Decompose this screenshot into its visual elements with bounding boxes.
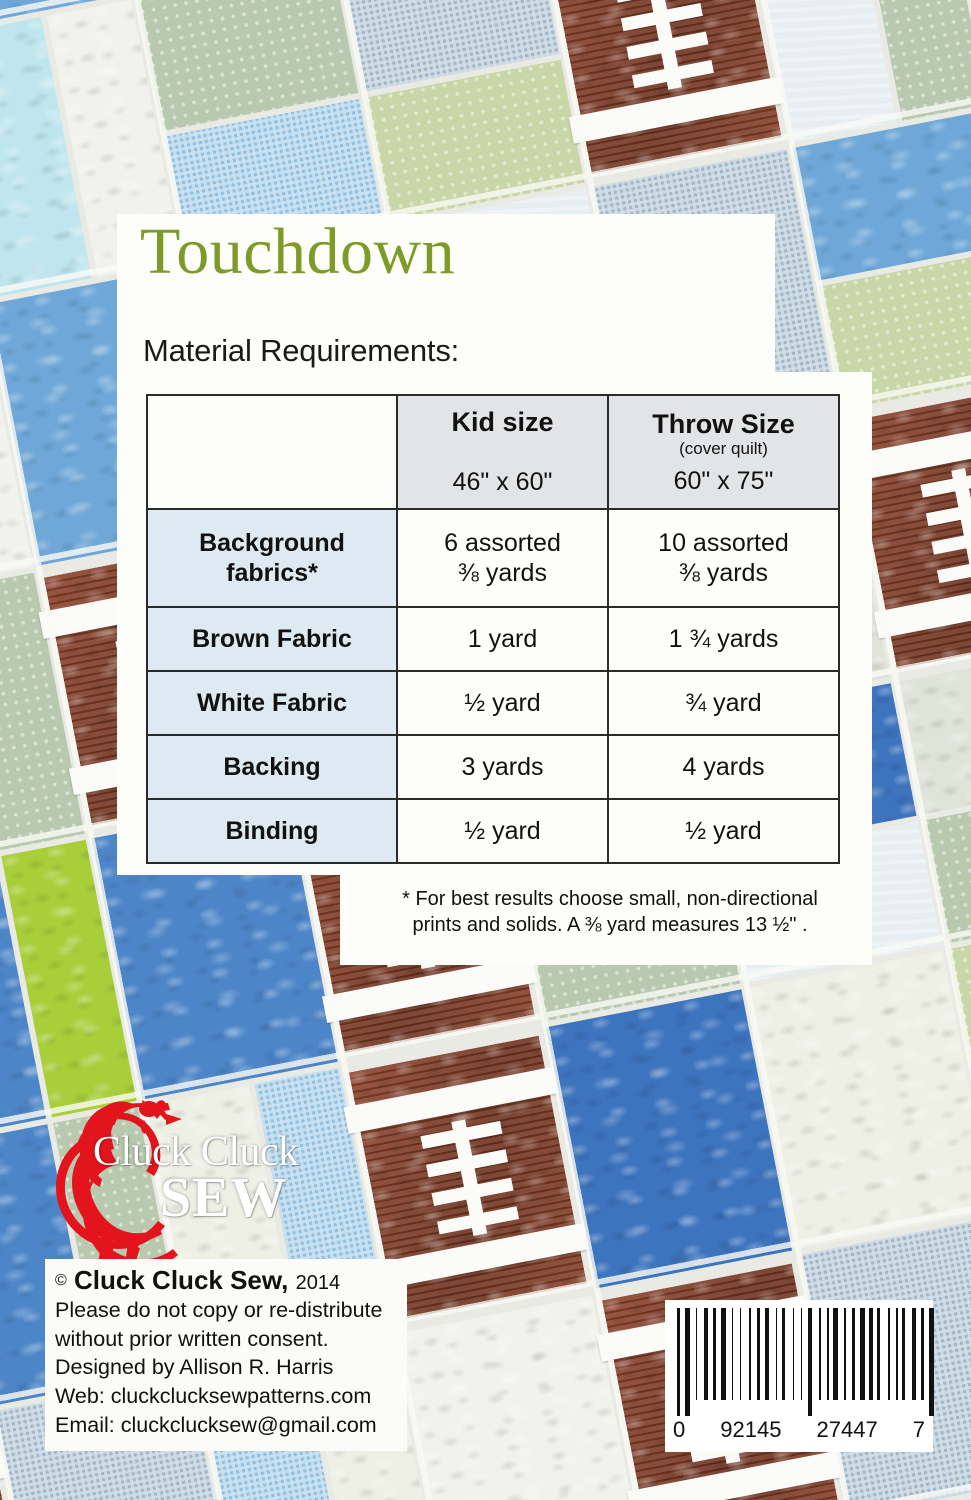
row-label-line2: fabrics* [226, 559, 318, 587]
cell-line1: 10 assorted [658, 529, 789, 557]
table-row: Brown Fabric 1 yard 1 ¾ yards [147, 607, 839, 671]
row-label-binding: Binding [147, 799, 397, 863]
barcode-bar [732, 1308, 734, 1400]
barcode-left-digit: 0 [673, 1417, 685, 1443]
barcode-group-1: 92145 [720, 1417, 781, 1443]
throw-size-name: Throw Size [609, 409, 838, 440]
copyright-line-3: without prior written consent. [55, 1325, 399, 1354]
copyright-line-email[interactable]: Email: cluckclucksew@gmail.com [55, 1411, 399, 1440]
barcode-bar [713, 1308, 716, 1400]
quilt-patch [397, 1295, 643, 1500]
copyright-year: 2014 [296, 1272, 341, 1294]
barcode-bar [852, 1308, 855, 1400]
cell-line1: 6 assorted [444, 529, 561, 557]
barcode-bar [696, 1308, 698, 1400]
barcode-bar [801, 1308, 803, 1400]
football-quilt-block [544, 0, 782, 174]
column-header-kid-size: Kid size 46" x 60" [397, 395, 608, 509]
section-heading-material-requirements: Material Requirements: [143, 333, 459, 369]
row-label-white-fabric: White Fabric [147, 671, 397, 735]
barcode-group-2: 27447 [817, 1417, 878, 1443]
barcode-bar [902, 1308, 905, 1400]
cell-line2: ⅜ yards [458, 559, 547, 587]
barcode-bar [677, 1308, 680, 1416]
barcode-bar [833, 1308, 838, 1400]
barcode-bar [929, 1308, 934, 1416]
kid-size-dims: 46" x 60" [398, 468, 607, 497]
barcode-bar [888, 1308, 890, 1400]
barcode-bar [921, 1308, 924, 1400]
barcode-bars [677, 1308, 923, 1416]
barcode-bar [776, 1308, 778, 1400]
barcode-bar [912, 1308, 917, 1400]
row-label-backing: Backing [147, 735, 397, 799]
cell-backing-throw: 4 yards [608, 735, 839, 799]
barcode-bar [765, 1308, 770, 1400]
table-row: Backing 3 yards 4 yards [147, 735, 839, 799]
footnote-line2: prints and solids. A ⅜ yard measures 13 … [356, 912, 864, 938]
cluck-cluck-sew-logo: Cluck Cluck SEW [48, 1098, 316, 1266]
kid-size-name: Kid size [398, 407, 607, 438]
cell-backing-kid: 3 yards [397, 735, 608, 799]
chicken-icon [48, 1098, 316, 1266]
copyright-line-web[interactable]: Web: cluckclucksewpatterns.com [55, 1382, 399, 1411]
cell-white-throw: ¾ yard [608, 671, 839, 735]
throw-size-dims: 60" x 75" [609, 467, 838, 496]
table-row: White Fabric ½ yard ¾ yard [147, 671, 839, 735]
cell-line2: ⅜ yards [679, 559, 768, 587]
barcode-bar [896, 1308, 898, 1400]
barcode-bar [721, 1308, 726, 1400]
table-row: Binding ½ yard ½ yard [147, 799, 839, 863]
cell-binding-throw: ½ yard [608, 799, 839, 863]
barcode-bar [740, 1308, 742, 1400]
cell-white-kid: ½ yard [397, 671, 608, 735]
barcode-bar [808, 1308, 811, 1416]
copyright-line-2: Please do not copy or re-distribute [55, 1296, 399, 1325]
barcode-bar [860, 1308, 865, 1400]
barcode-bar [877, 1308, 880, 1400]
barcode-bar [819, 1308, 821, 1400]
copyright-company: Cluck Cluck Sew, [74, 1265, 288, 1295]
copyright-symbol: © [55, 1272, 67, 1289]
cell-brown-throw: 1 ¾ yards [608, 607, 839, 671]
barcode-bar [749, 1308, 751, 1400]
barcode-bar [844, 1308, 846, 1400]
barcode-bar [827, 1308, 829, 1400]
footnote-line1: * For best results choose small, non-dir… [356, 886, 864, 912]
row-label-line1: Background [199, 529, 345, 557]
barcode-right-digit: 7 [913, 1417, 925, 1443]
copyright-block: © Cluck Cluck Sew, 2014 Please do not co… [45, 1259, 407, 1451]
table-corner-cell [147, 395, 397, 509]
cell-binding-kid: ½ yard [397, 799, 608, 863]
table-header-row: Kid size 46" x 60" Throw Size (cover qui… [147, 395, 839, 509]
barcode-bar [757, 1308, 760, 1400]
page-title: Touchdown [140, 219, 455, 285]
cell-brown-kid: 1 yard [397, 607, 608, 671]
throw-size-subtitle: (cover quilt) [609, 439, 838, 458]
material-requirements-table: Kid size 46" x 60" Throw Size (cover qui… [146, 394, 840, 864]
barcode-bar [793, 1308, 795, 1400]
barcode-bar [869, 1308, 872, 1400]
barcode-bar [782, 1308, 785, 1400]
cell-background-throw: 10 assorted ⅜ yards [608, 509, 839, 607]
upc-barcode: 0 92145 27447 7 [665, 1300, 933, 1452]
table-footnote: * For best results choose small, non-dir… [356, 886, 864, 939]
pattern-back-cover: Touchdown Material Requirements: Kid siz… [0, 0, 971, 1500]
copyright-line-company: © Cluck Cluck Sew, 2014 [55, 1265, 399, 1296]
copyright-line-designer: Designed by Allison R. Harris [55, 1353, 399, 1382]
table-row: Background fabrics* 6 assorted ⅜ yards 1… [147, 509, 839, 607]
row-label-brown-fabric: Brown Fabric [147, 607, 397, 671]
cell-background-kid: 6 assorted ⅜ yards [397, 509, 608, 607]
barcode-bar [704, 1308, 709, 1400]
barcode-digits: 0 92145 27447 7 [671, 1417, 927, 1443]
column-header-throw-size: Throw Size (cover quilt) 60" x 75" [608, 395, 839, 509]
barcode-bar [685, 1308, 690, 1416]
row-label-background-fabrics: Background fabrics* [147, 509, 397, 607]
